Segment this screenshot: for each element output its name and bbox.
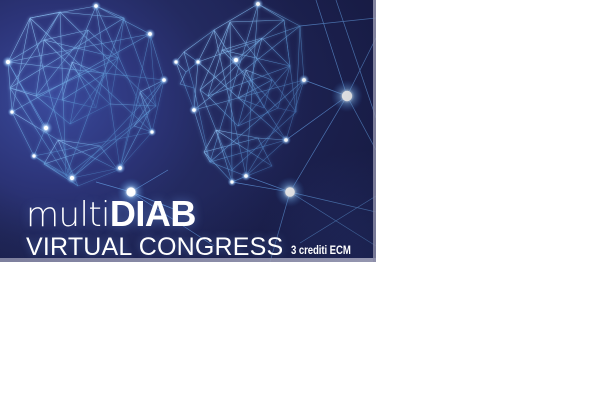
brand-suffix-text: DIAB xyxy=(110,193,196,234)
brand-prefix-text: multi xyxy=(26,195,110,235)
brand-logo-lockup: multiDIAB VIRTUAL CONGRESS 3 crediti ECM xyxy=(26,196,326,260)
banner-bottom-edge xyxy=(0,258,376,262)
banner-right-edge xyxy=(373,0,376,262)
brand-subtitle-row: VIRTUAL CONGRESS 3 crediti ECM xyxy=(26,234,326,260)
congress-banner: multiDIAB VIRTUAL CONGRESS 3 crediti ECM xyxy=(0,0,376,262)
page-canvas: multiDIAB VIRTUAL CONGRESS 3 crediti ECM xyxy=(0,0,600,400)
event-subtitle-text: VIRTUAL CONGRESS xyxy=(26,234,283,260)
brand-wordmark: multiDIAB xyxy=(26,196,326,233)
